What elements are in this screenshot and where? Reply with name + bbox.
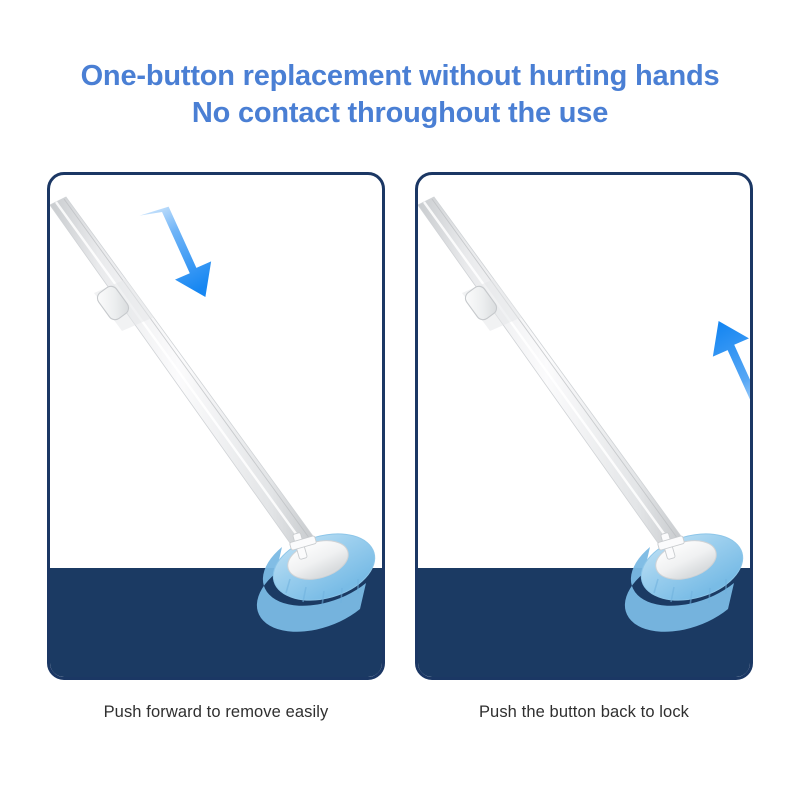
headline-line-2: No contact throughout the use [0, 95, 800, 132]
mop-illustration-remove [50, 175, 382, 677]
mop-head-disc [257, 523, 382, 632]
mop-graphic [50, 175, 382, 677]
arrow-up-left-icon [708, 321, 750, 414]
caption-remove: Push forward to remove easily [47, 703, 385, 722]
headline-line-1: One-button replacement without hurting h… [0, 58, 800, 95]
mop-graphic [418, 175, 750, 677]
caption-lock: Push the button back to lock [415, 703, 753, 722]
mop-illustration-lock [418, 175, 750, 677]
headline: One-button replacement without hurting h… [0, 58, 800, 132]
panel-remove [47, 172, 385, 680]
mop-head-disc [625, 523, 750, 632]
panel-lock [415, 172, 753, 680]
arrow-down-right-icon [132, 204, 217, 297]
mop-pole [418, 197, 686, 557]
